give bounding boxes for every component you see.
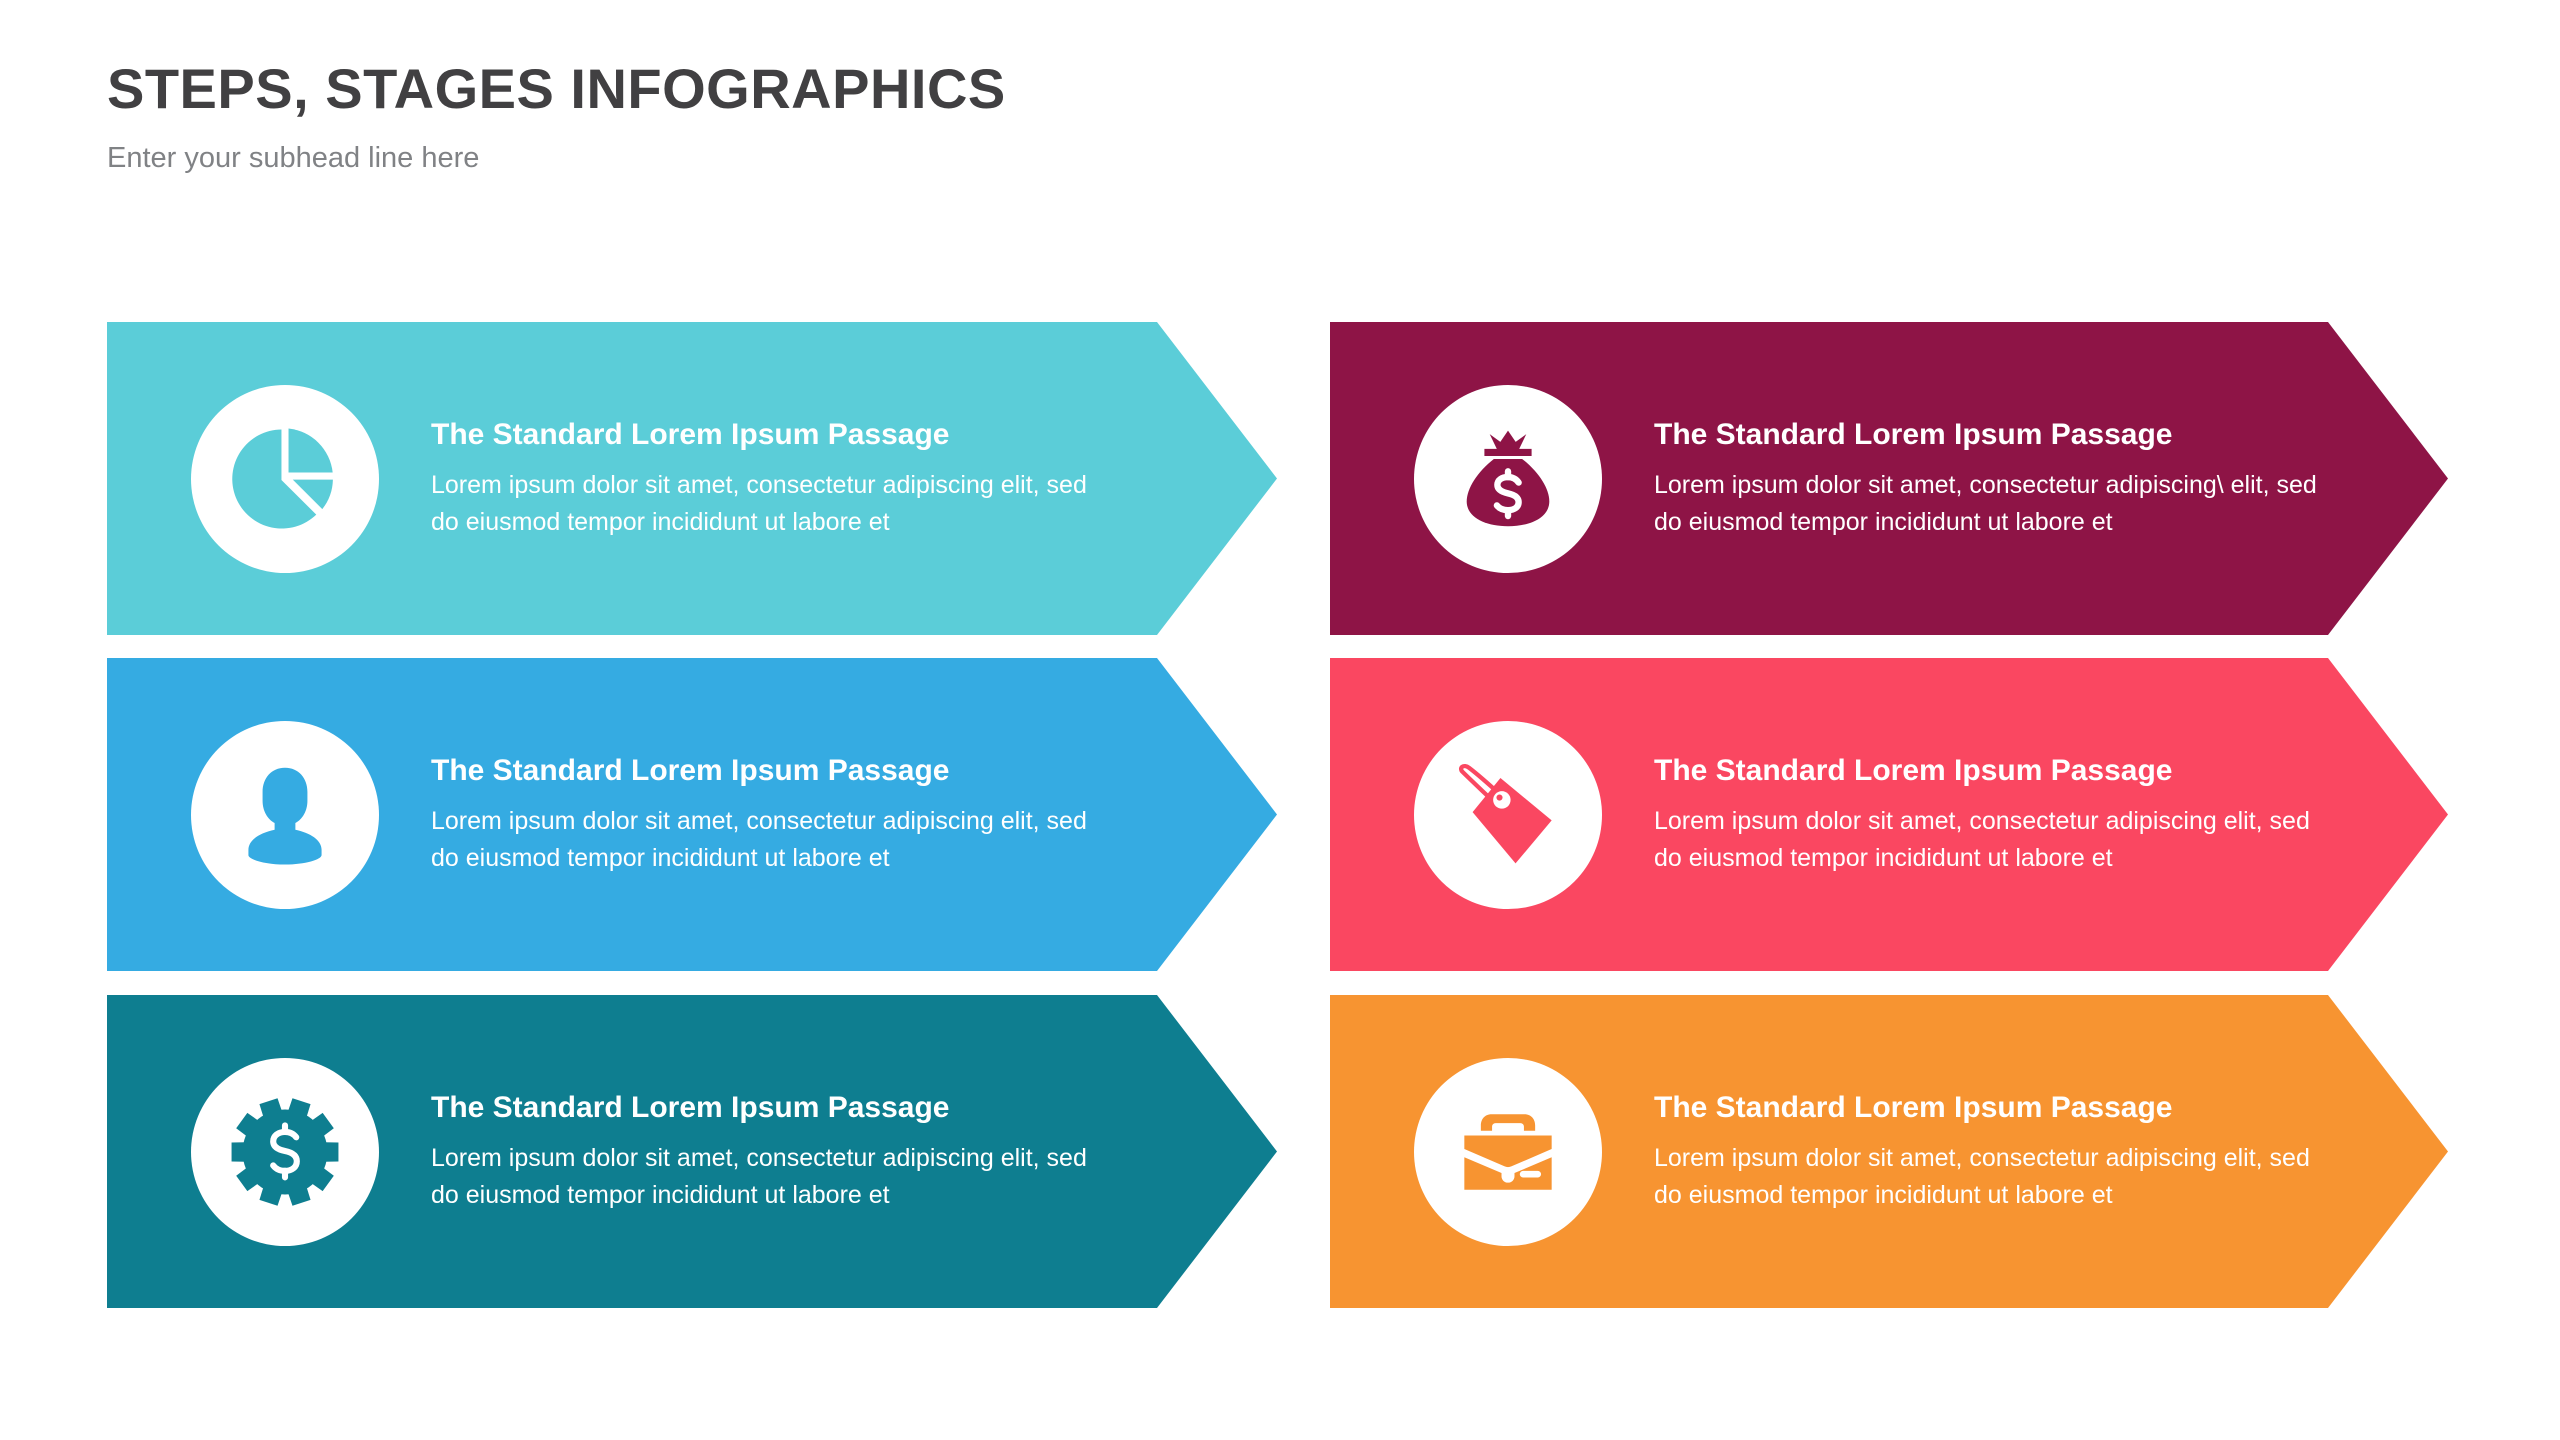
slide-canvas: STEPS, STAGES INFOGRAPHICS Enter your su… <box>0 0 2560 1440</box>
card-heading: The Standard Lorem Ipsum Passage <box>431 1089 1119 1127</box>
person-icon <box>226 756 344 874</box>
card-heading: The Standard Lorem Ipsum Passage <box>1654 1089 2342 1127</box>
price-tag-icon <box>1449 756 1567 874</box>
arrow-card-grid: The Standard Lorem Ipsum PassageLorem ip… <box>0 0 2560 1440</box>
card-text-card-6: The Standard Lorem Ipsum PassageLorem ip… <box>1654 1089 2354 1215</box>
card-heading: The Standard Lorem Ipsum Passage <box>431 752 1119 790</box>
arrow-card-card-4[interactable]: The Standard Lorem Ipsum PassageLorem ip… <box>1330 322 2448 635</box>
card-heading: The Standard Lorem Ipsum Passage <box>1654 416 2342 454</box>
card-body: Lorem ipsum dolor sit amet, consectetur … <box>431 1140 1119 1214</box>
pie-chart-icon <box>226 420 344 538</box>
card-text-card-5: The Standard Lorem Ipsum PassageLorem ip… <box>1654 752 2354 878</box>
card-text-card-4: The Standard Lorem Ipsum PassageLorem ip… <box>1654 416 2354 542</box>
card-heading: The Standard Lorem Ipsum Passage <box>1654 752 2342 790</box>
card-text-card-1: The Standard Lorem Ipsum PassageLorem ip… <box>431 416 1131 542</box>
card-body: Lorem ipsum dolor sit amet, consectetur … <box>431 467 1119 541</box>
card-text-card-2: The Standard Lorem Ipsum PassageLorem ip… <box>431 752 1131 878</box>
card-heading: The Standard Lorem Ipsum Passage <box>431 416 1119 454</box>
briefcase-icon <box>1449 1093 1567 1211</box>
card-body: Lorem ipsum dolor sit amet, consectetur … <box>1654 467 2342 541</box>
card-text-card-3: The Standard Lorem Ipsum PassageLorem ip… <box>431 1089 1131 1215</box>
arrow-card-card-2[interactable]: The Standard Lorem Ipsum PassageLorem ip… <box>107 658 1277 971</box>
arrow-card-card-5[interactable]: The Standard Lorem Ipsum PassageLorem ip… <box>1330 658 2448 971</box>
arrow-card-card-1[interactable]: The Standard Lorem Ipsum PassageLorem ip… <box>107 322 1277 635</box>
icon-disc-card-2 <box>191 721 379 909</box>
icon-disc-card-1 <box>191 385 379 573</box>
icon-disc-card-4 <box>1414 385 1602 573</box>
arrow-card-card-3[interactable]: The Standard Lorem Ipsum PassageLorem ip… <box>107 995 1277 1308</box>
gear-dollar-icon <box>226 1093 344 1211</box>
card-body: Lorem ipsum dolor sit amet, consectetur … <box>431 803 1119 877</box>
icon-disc-card-5 <box>1414 721 1602 909</box>
money-bag-icon <box>1449 420 1567 538</box>
card-body: Lorem ipsum dolor sit amet, consectetur … <box>1654 1140 2342 1214</box>
card-body: Lorem ipsum dolor sit amet, consectetur … <box>1654 803 2342 877</box>
arrow-card-card-6[interactable]: The Standard Lorem Ipsum PassageLorem ip… <box>1330 995 2448 1308</box>
icon-disc-card-6 <box>1414 1058 1602 1246</box>
icon-disc-card-3 <box>191 1058 379 1246</box>
